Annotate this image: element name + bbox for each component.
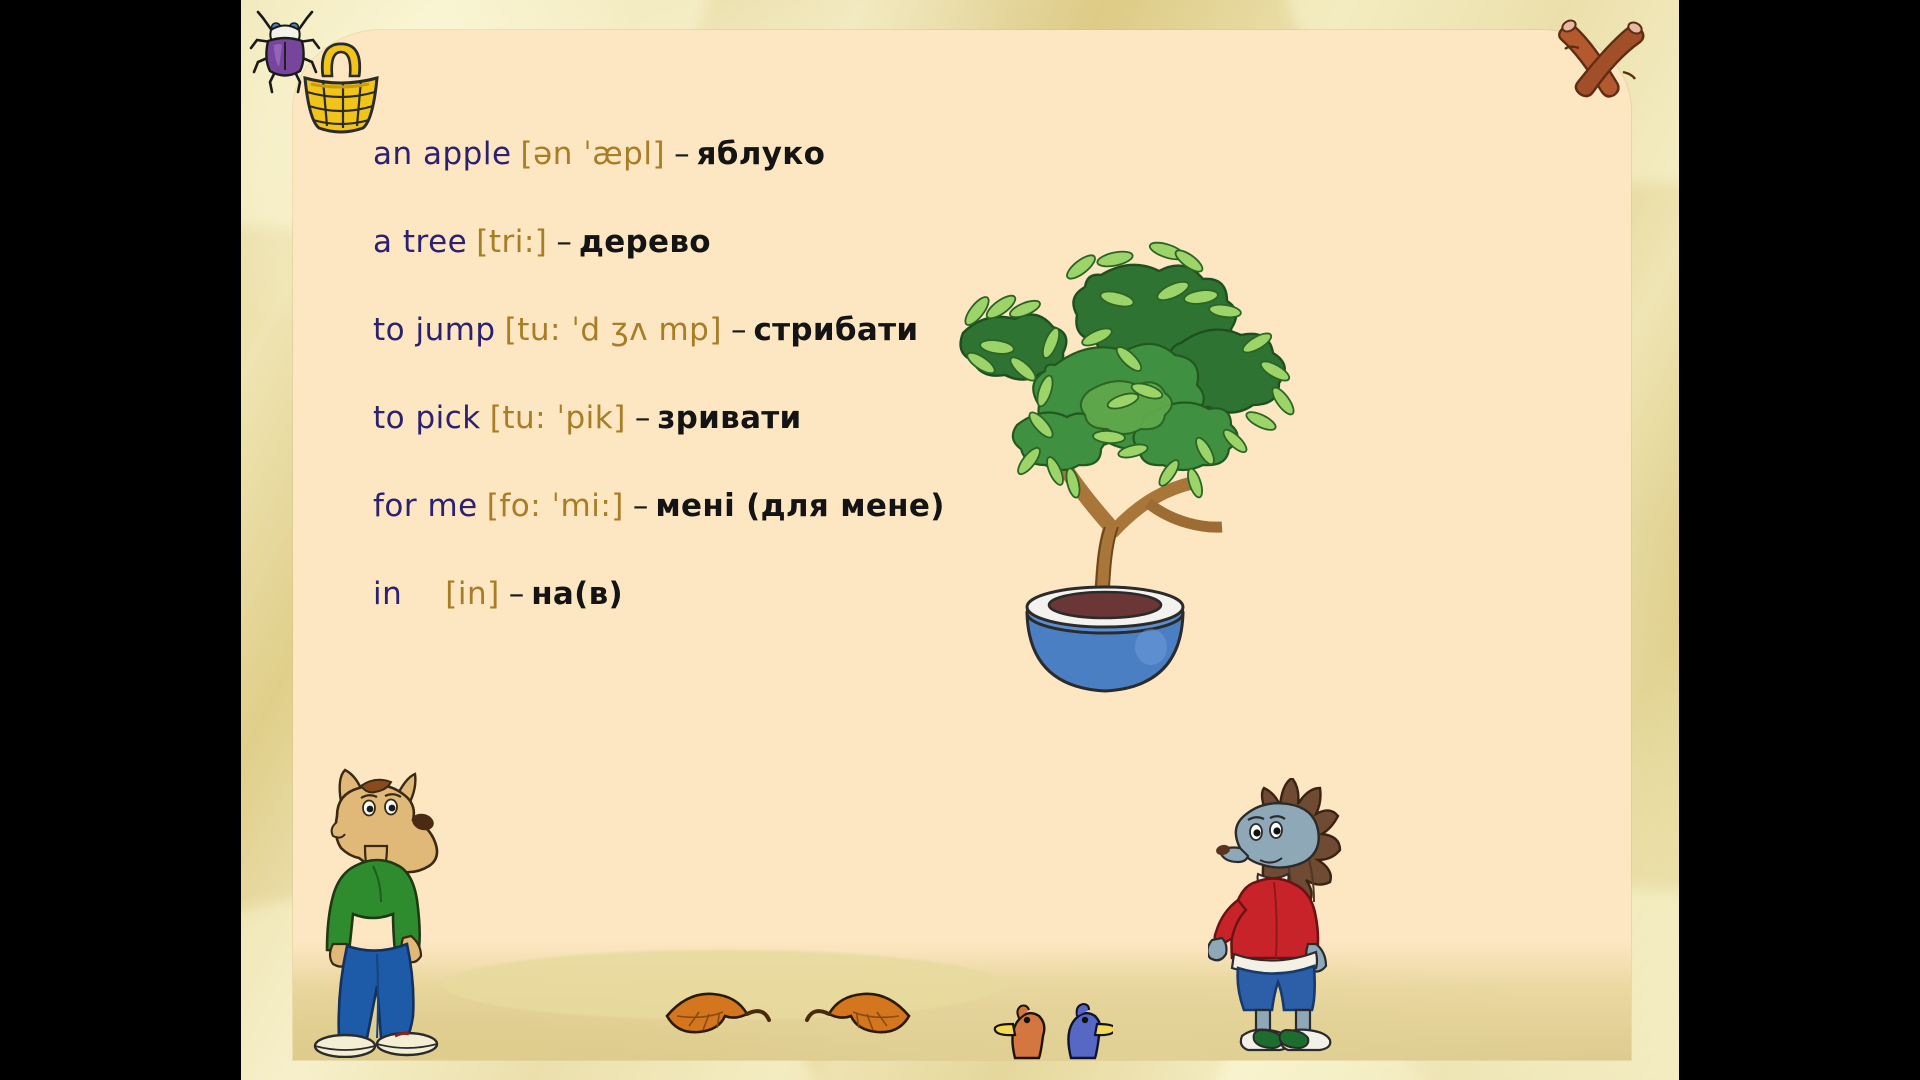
phonetic-transcription: [tri:] <box>476 224 547 260</box>
english-word: a tree <box>373 224 467 260</box>
separator-dash: – <box>635 400 651 436</box>
english-word: to jump <box>373 312 496 348</box>
letterbox-bar-left <box>0 0 241 1080</box>
vocabulary-row: a tree[tri:]–дерево <box>373 198 1133 286</box>
blue-bird <box>1068 1004 1113 1058</box>
translation: дерево <box>579 224 711 260</box>
english-word: to pick <box>373 400 481 436</box>
phonetic-transcription: [in] <box>445 576 499 612</box>
separator-dash: – <box>674 136 690 172</box>
hedgehog-character <box>1208 778 1358 1058</box>
separator-dash: – <box>731 312 747 348</box>
vocabulary-list: an apple[ən ˈæpl]–яблукоa tree[tri:]–дер… <box>373 110 1133 638</box>
separator-dash: – <box>556 224 572 260</box>
content-panel: an apple[ən ˈæpl]–яблукоa tree[tri:]–дер… <box>293 30 1631 1060</box>
english-word: in <box>373 576 402 612</box>
translation: яблуко <box>697 136 826 172</box>
vocabulary-row: to jump[tu: ˈd ʒʌ mp]–стрибати <box>373 286 1133 374</box>
vocabulary-row: in[in]–на(в) <box>373 550 1133 638</box>
letterbox-bar-right <box>1679 0 1920 1080</box>
phonetic-transcription: [tu: ˈpik] <box>490 400 626 436</box>
translation: на(в) <box>531 576 623 612</box>
separator-dash: – <box>509 576 525 612</box>
birds-illustration <box>993 1000 1113 1060</box>
orange-bird <box>995 1006 1045 1059</box>
english-word: an apple <box>373 136 512 172</box>
separator-dash: – <box>633 488 649 524</box>
vocabulary-row: to pick[tu: ˈpik]–зривати <box>373 374 1133 462</box>
vocabulary-row: for me[fo: ˈmi:]–мені (для мене) <box>373 462 1133 550</box>
slide-stage: an apple[ən ˈæpl]–яблукоa tree[tri:]–дер… <box>0 0 1920 1080</box>
beetle-icon <box>249 8 321 96</box>
vocabulary-row: an apple[ən ˈæpl]–яблуко <box>373 110 1133 198</box>
phonetic-transcription: [tu: ˈd ʒʌ mp] <box>505 312 722 348</box>
slide-canvas: an apple[ən ˈæpl]–яблукоa tree[tri:]–дер… <box>241 0 1679 1080</box>
phonetic-transcription: [fo: ˈmi:] <box>487 488 624 524</box>
wolf-character <box>303 758 453 1058</box>
orange-leaf-icon <box>803 986 913 1046</box>
crossed-twigs-icon <box>1549 14 1659 104</box>
translation: мені (для мене) <box>655 488 944 524</box>
phonetic-transcription: [ən ˈæpl] <box>521 136 666 172</box>
translation: стрибати <box>753 312 918 348</box>
orange-leaf-icon <box>663 986 773 1046</box>
translation: зривати <box>657 400 801 436</box>
english-word: for me <box>373 488 478 524</box>
